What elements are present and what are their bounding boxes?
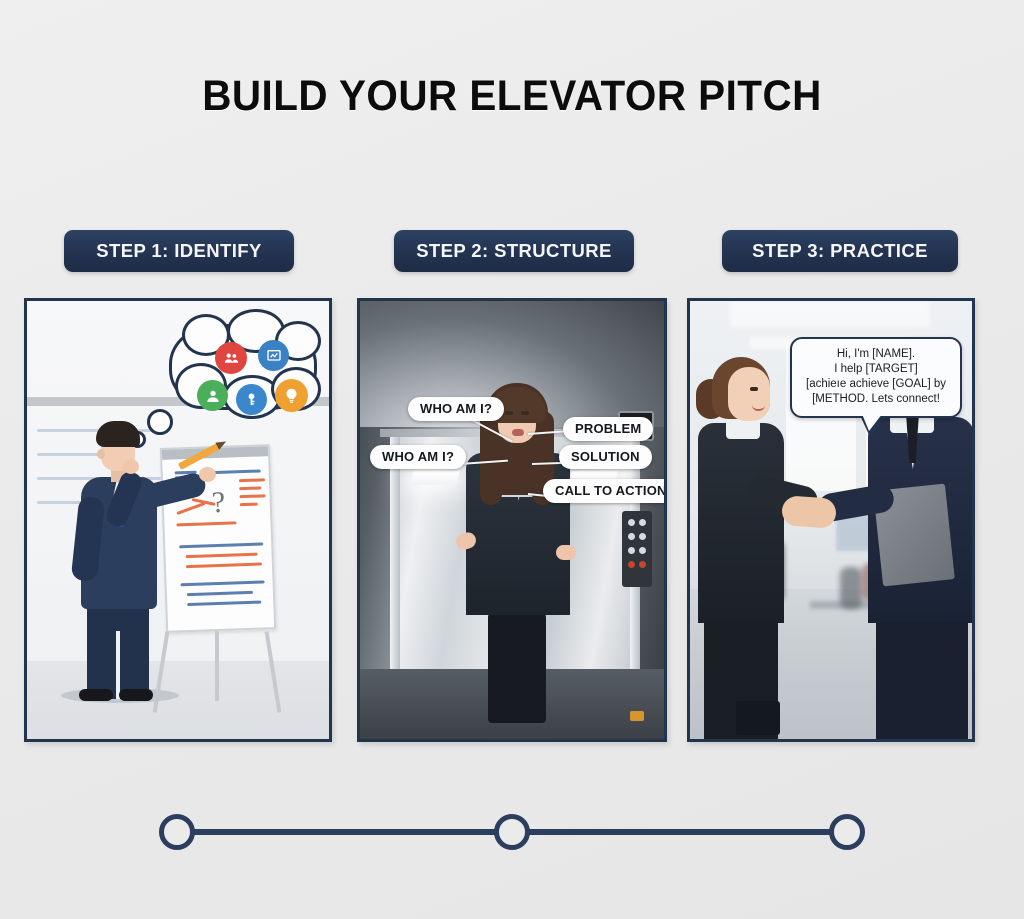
elevator-pitch-speech-bubble: Hi, I'm [NAME]. I help [TARGET] [achieıe… (790, 337, 962, 418)
page-title: BUILD YOUR ELEVATOR PITCH (31, 72, 994, 121)
timeline-node-step-3[interactable] (829, 814, 865, 850)
briefcase-icon (736, 701, 780, 735)
speaker-eye (521, 411, 529, 415)
easel-leg (215, 631, 219, 701)
flipchart-scribble (240, 494, 266, 497)
label-who-am-i-top: WHO AM I? (408, 397, 504, 421)
flipchart-scribble (187, 591, 253, 596)
flipchart-scribble (187, 601, 261, 606)
elevator-button[interactable] (639, 519, 646, 526)
elevator-button[interactable] (628, 561, 635, 568)
floor-indicator-icon (630, 711, 644, 721)
speech-bubble-tail-inner (860, 409, 886, 431)
step-badge-2: STEP 2: STRUCTURE (394, 230, 634, 272)
label-who-am-i-left: WHO AM I? (370, 445, 466, 469)
step-badge-1: STEP 1: IDENTIFY (64, 230, 294, 272)
ceiling-light (410, 471, 459, 485)
flipchart-scribble (240, 503, 258, 506)
flipchart-scribble (239, 486, 261, 489)
infographic-page: BUILD YOUR ELEVATOR PITCH STEP 1: IDENTI… (0, 0, 1024, 919)
woman-eye (750, 387, 758, 391)
woman-suit (698, 423, 784, 623)
key-icon (236, 384, 267, 415)
speaker-mouth (512, 429, 524, 436)
elevator-button[interactable] (639, 533, 646, 540)
background-person (840, 567, 862, 609)
pitch-line-2: I help [TARGET] (800, 362, 952, 377)
label-problem: PROBLEM (563, 417, 653, 441)
practice-panel: Hi, I'm [NAME]. I help [TARGET] [achieıe… (687, 298, 975, 742)
elevator-button[interactable] (639, 561, 646, 568)
presentation-icon (258, 340, 289, 371)
speaker-right-hand (556, 545, 576, 560)
figure-shoe (79, 689, 113, 701)
woman-face (728, 367, 770, 421)
figure-ear (97, 449, 105, 459)
elevator-button[interactable] (628, 547, 635, 554)
structure-panel: WHO AM I? WHO AM I? PROBLEM SOLUTION CAL… (357, 298, 667, 742)
flipchart-scribble (239, 478, 265, 481)
label-call-to-action: CALL TO ACTION (543, 479, 667, 503)
flipchart-scribble (181, 580, 265, 585)
handshake-icon (781, 495, 837, 529)
flipchart-scribble (186, 562, 262, 567)
elevator-button[interactable] (639, 547, 646, 554)
elevator-button-panel[interactable] (622, 511, 652, 587)
figure-leg-gap (116, 631, 120, 699)
pitch-line-4: [METHOD. Lets connect! (800, 392, 952, 407)
flipchart-board: ? (160, 444, 276, 633)
label-solution: SOLUTION (559, 445, 652, 469)
figure-pointing-hand (199, 467, 216, 482)
flipchart-scribble (176, 502, 205, 515)
step-badge-3-label: STEP 3: PRACTICE (752, 240, 928, 262)
figure-hair (96, 421, 140, 447)
pitch-line-3: [achieıe achieve [GOAL] by (800, 377, 952, 392)
speaker-legs (488, 613, 546, 723)
timeline-node-step-1[interactable] (159, 814, 195, 850)
step-badge-1-label: STEP 1: IDENTIFY (96, 240, 261, 262)
identify-panel: ? (24, 298, 332, 742)
step-badge-2-label: STEP 2: STRUCTURE (416, 240, 612, 262)
step-badge-3: STEP 3: PRACTICE (722, 230, 958, 272)
figure-hand-on-chin (123, 459, 139, 474)
figure-shoe (119, 689, 153, 701)
pitch-line-1: Hi, I'm [NAME]. (800, 347, 952, 362)
person-icon (197, 380, 228, 411)
flipchart-question-mark: ? (211, 486, 226, 520)
flipchart-scribble (176, 521, 236, 526)
flipchart-scribble (179, 542, 263, 547)
timeline-node-step-2[interactable] (494, 814, 530, 850)
thought-bubble-tail (147, 409, 173, 435)
elevator-button[interactable] (628, 533, 635, 540)
lightbulb-icon (275, 379, 308, 412)
speaker-eye (505, 411, 513, 415)
ceiling-beam (730, 301, 930, 327)
flipchart-scribble (186, 553, 258, 558)
man-legs (876, 621, 968, 741)
elevator-button[interactable] (628, 519, 635, 526)
people-icon (215, 342, 247, 374)
